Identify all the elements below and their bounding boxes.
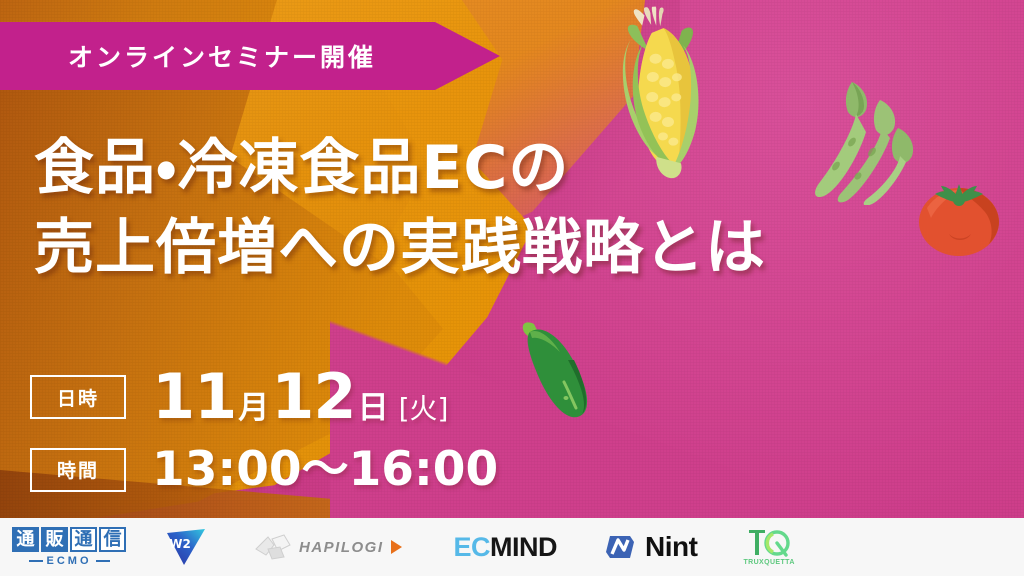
webinar-banner: オンラインセミナー開催 食品・冷凍食品ECの 売上倍増への実践戦略とは 日時 1… xyxy=(0,0,1024,576)
date-day-unit: 日 xyxy=(358,393,389,424)
w2-mark-icon: W2 xyxy=(164,527,208,567)
date-month-number: 11 xyxy=(152,366,236,428)
logo-tsuhan-tsushin[interactable]: 通 販 通 信 ECMO xyxy=(12,527,126,567)
hapilogi-label: HAPILOGI xyxy=(299,539,384,556)
seminar-ribbon: オンラインセミナー開催 xyxy=(0,22,500,90)
tsuhan-char-2: 販 xyxy=(41,527,68,552)
ecmind-label-part2: MIND xyxy=(490,532,557,563)
hapilogi-mark-icon xyxy=(254,533,292,561)
tomato-icon xyxy=(915,178,1003,258)
tsuhan-sublabel-row: ECMO xyxy=(12,555,126,567)
time-value: 13:00〜16:00 xyxy=(152,446,498,493)
ribbon-label: オンラインセミナー開催 xyxy=(0,38,376,74)
date-day-number: 12 xyxy=(271,366,355,428)
logo-ecmind[interactable]: ECMIND xyxy=(454,532,558,563)
truxquetta-mark-icon xyxy=(747,528,791,558)
zucchini-icon xyxy=(508,306,628,426)
time-chip-label: 時間 xyxy=(30,448,126,492)
date-chip-label: 日時 xyxy=(30,375,126,419)
time-row: 時間 13:00〜16:00 xyxy=(30,446,498,493)
date-value: 11 月 12 日 [火] xyxy=(152,366,448,428)
tsuhan-char-1: 通 xyxy=(12,527,39,552)
ecmind-label-part1: EC xyxy=(454,532,491,563)
logo-truxquetta[interactable]: TRUXQUETTA xyxy=(743,528,794,566)
w2-label: W2 xyxy=(169,537,191,551)
dash-right-icon xyxy=(96,560,110,562)
logo-hapilogi[interactable]: HAPILOGI xyxy=(254,533,402,561)
asparagus-icon xyxy=(800,70,930,205)
date-row: 日時 11 月 12 日 [火] xyxy=(30,366,498,428)
time-value-wrap: 13:00〜16:00 xyxy=(152,446,498,493)
date-month-unit: 月 xyxy=(238,393,269,424)
event-info: 日時 11 月 12 日 [火] 時間 13:00〜16:00 xyxy=(30,366,498,511)
hapilogi-triangle-icon xyxy=(391,540,402,554)
corn-icon xyxy=(606,2,728,184)
logo-nint[interactable]: Nint xyxy=(603,531,697,563)
dash-left-icon xyxy=(29,560,43,562)
page-title: 食品・冷凍食品ECの 売上倍増への実践戦略とは xyxy=(34,128,924,289)
nint-mark-icon xyxy=(603,532,637,562)
tsuhan-char-3: 通 xyxy=(70,527,97,552)
truxquetta-label: TRUXQUETTA xyxy=(743,559,794,566)
logo-w2[interactable]: W2 xyxy=(164,527,208,567)
title-line-2: 売上倍増への実践戦略とは xyxy=(34,208,924,288)
date-weekday: [火] xyxy=(399,395,449,423)
nint-label: Nint xyxy=(645,531,697,563)
tsuhan-char-4: 信 xyxy=(99,527,126,552)
partner-logo-bar: 通 販 通 信 ECMO xyxy=(0,518,1024,576)
tsuhan-sublabel: ECMO xyxy=(47,555,92,567)
tsuhan-characters: 通 販 通 信 xyxy=(12,527,126,552)
title-line-1: 食品・冷凍食品ECの xyxy=(34,128,924,208)
